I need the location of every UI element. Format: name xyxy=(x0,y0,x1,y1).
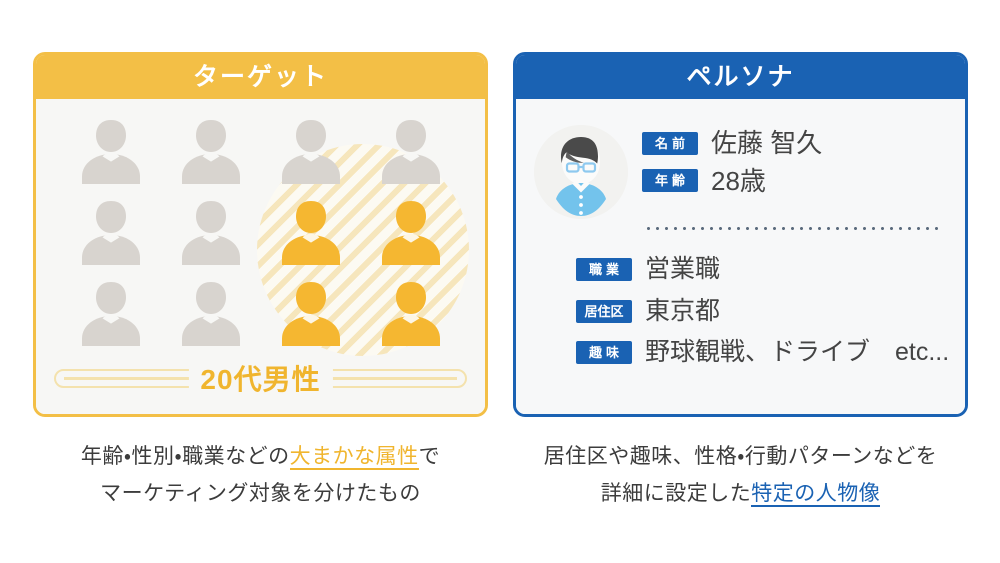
target-card-body: 20代男性 xyxy=(36,99,485,414)
persona-card-header: ペルソナ xyxy=(516,55,965,99)
person-icon-gray xyxy=(361,113,461,192)
target-caption-line1-after: で xyxy=(419,445,441,468)
person-icon-gray xyxy=(261,113,361,192)
target-card-header: ターゲット xyxy=(36,55,485,99)
person-icon-gray xyxy=(161,113,261,192)
target-card: ターゲット xyxy=(33,52,488,417)
persona-caption-line2: 詳細に設定した特定の人物像 xyxy=(513,476,968,513)
persona-top-fields: 名前 佐藤 智久 年齢 28歳 xyxy=(628,125,943,204)
persona-caption-highlight: 特定の人物像 xyxy=(751,482,880,507)
persona-field-value-name: 佐藤 智久 xyxy=(711,129,822,158)
persona-field-label-name: 名前 xyxy=(642,132,698,155)
avatar xyxy=(534,125,628,219)
person-icon-gray xyxy=(61,194,161,273)
persona-field-residence: 居住区 東京都 xyxy=(576,298,947,326)
person-icon-gray xyxy=(61,274,161,353)
persona-field-value-hobby: 野球観戦、ドライブ etc... xyxy=(645,339,949,367)
people-grid-wrapper xyxy=(36,99,485,354)
avatar-illustration-icon xyxy=(534,125,628,219)
persona-bottom-section: 職業 営業職 居住区 東京都 趣味 野球観戦、ドライブ etc... xyxy=(516,230,965,367)
persona-field-label-residence: 居住区 xyxy=(576,300,632,323)
persona-column: ペルソナ xyxy=(513,52,968,513)
persona-card-body: 名前 佐藤 智久 年齢 28歳 職業 営業職 xyxy=(516,99,965,414)
persona-field-hobby: 趣味 野球観戦、ドライブ etc... xyxy=(576,339,947,367)
target-column: ターゲット xyxy=(33,52,488,513)
target-caption-highlight: 大まかな属性 xyxy=(290,445,419,470)
persona-field-label-hobby: 趣味 xyxy=(576,341,632,364)
persona-top-section: 名前 佐藤 智久 年齢 28歳 xyxy=(516,99,965,219)
person-icon-highlighted xyxy=(261,274,361,353)
persona-field-label-age: 年齢 xyxy=(642,169,698,192)
persona-caption: 居住区や趣味、性格・行動パターンなどを 詳細に設定した特定の人物像 xyxy=(513,439,968,513)
person-icon-highlighted xyxy=(261,194,361,273)
people-grid xyxy=(61,113,461,353)
persona-field-name: 名前 佐藤 智久 xyxy=(642,129,943,158)
persona-field-label-occupation: 職業 xyxy=(576,258,632,281)
persona-field-value-occupation: 営業職 xyxy=(645,256,720,284)
target-caption: 年齢・性別・職業などの大まかな属性で マーケティング対象を分けたもの xyxy=(33,439,488,513)
person-icon-highlighted xyxy=(361,194,461,273)
infographic-root: ターゲット xyxy=(0,0,1000,563)
persona-card: ペルソナ xyxy=(513,52,968,417)
target-caption-line2: マーケティング対象を分けたもの xyxy=(33,476,488,513)
persona-caption-line1: 居住区や趣味、性格・行動パターンなどを xyxy=(513,439,968,476)
target-caption-line1-before: 年齢・性別・職業などの xyxy=(81,445,290,468)
persona-field-value-age: 28歳 xyxy=(711,167,766,196)
person-icon-gray xyxy=(161,194,261,273)
segment-band: 20代男性 xyxy=(54,358,467,398)
persona-field-occupation: 職業 営業職 xyxy=(576,256,947,284)
target-caption-line1: 年齢・性別・職業などの大まかな属性で xyxy=(33,439,488,476)
segment-label: 20代男性 xyxy=(188,358,332,398)
person-icon-highlighted xyxy=(361,274,461,353)
persona-field-value-residence: 東京都 xyxy=(645,298,720,326)
person-icon-gray xyxy=(161,274,261,353)
person-icon-gray xyxy=(61,113,161,192)
persona-caption-line2-before: 詳細に設定した xyxy=(601,482,752,505)
persona-field-age: 年齢 28歳 xyxy=(642,167,943,196)
